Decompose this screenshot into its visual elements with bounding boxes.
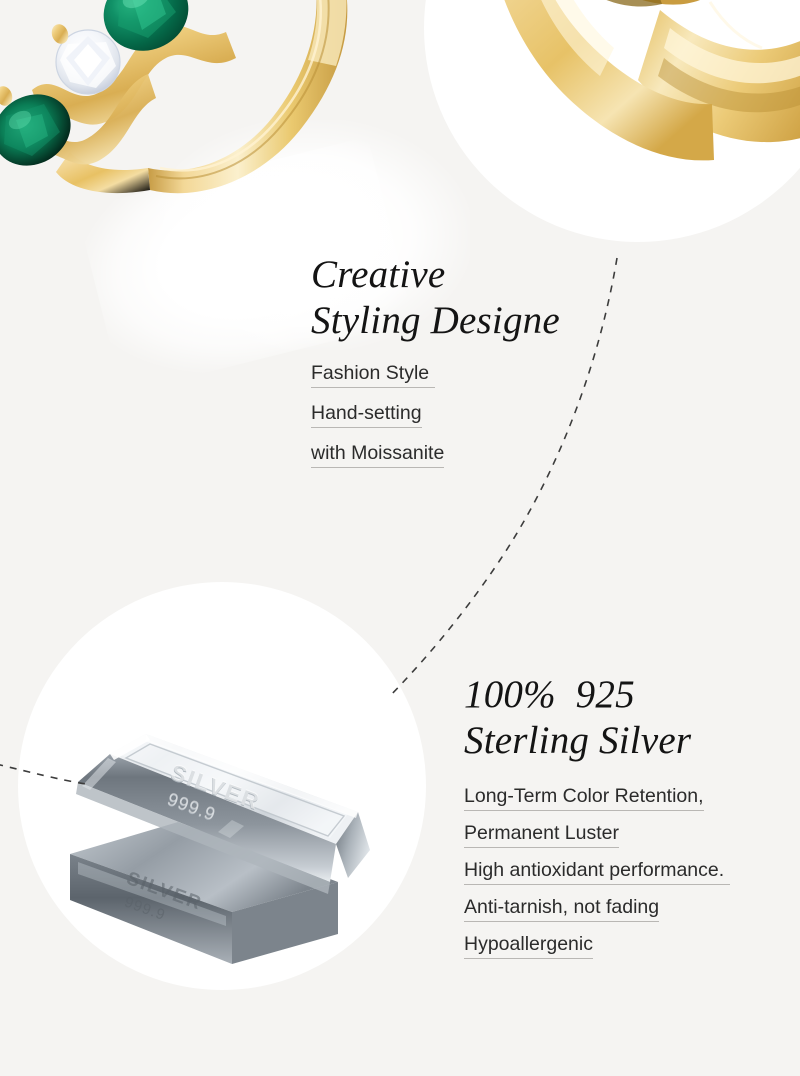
product-feature-page: SILVER 999.9	[0, 0, 800, 1076]
sterling-silver-headline-line1: 100% 925	[464, 672, 730, 718]
creative-styling-headline-line2: Styling Designe	[311, 298, 560, 344]
bullet-fashion-style: Fashion Style	[311, 363, 435, 388]
silver-bullion-bars: SILVER 999.9	[18, 582, 426, 990]
bullet-color-retention: Long-Term Color Retention,	[464, 786, 704, 811]
silver-bars-circle: SILVER 999.9	[18, 582, 426, 990]
creative-styling-text-block: Creative Styling Designe Fashion Style H…	[311, 252, 560, 483]
sterling-silver-bullet-list: Long-Term Color Retention, Permanent Lus…	[464, 786, 730, 959]
emerald-closeup-circle	[424, 0, 800, 242]
sterling-silver-headline-line2: Sterling Silver	[464, 718, 730, 764]
sterling-silver-text-block: 100% 925 Sterling Silver Long-Term Color…	[464, 672, 730, 971]
bullet-hand-setting: Hand-setting	[311, 403, 422, 428]
emerald-stone-closeup-in-gold-band	[424, 0, 800, 242]
creative-styling-headline-line1: Creative	[311, 252, 560, 298]
gold-ring-with-emeralds-and-diamonds	[0, 0, 380, 280]
bullet-anti-tarnish: Anti-tarnish, not fading	[464, 897, 659, 922]
bullet-hypoallergenic: Hypoallergenic	[464, 934, 593, 959]
bullet-antioxidant: High antioxidant performance.	[464, 860, 730, 885]
bullet-permanent-luster: Permanent Luster	[464, 823, 619, 848]
bullet-with-moissanite: with Moissanite	[311, 443, 444, 468]
creative-styling-bullet-list: Fashion Style Hand-setting with Moissani…	[311, 363, 560, 468]
